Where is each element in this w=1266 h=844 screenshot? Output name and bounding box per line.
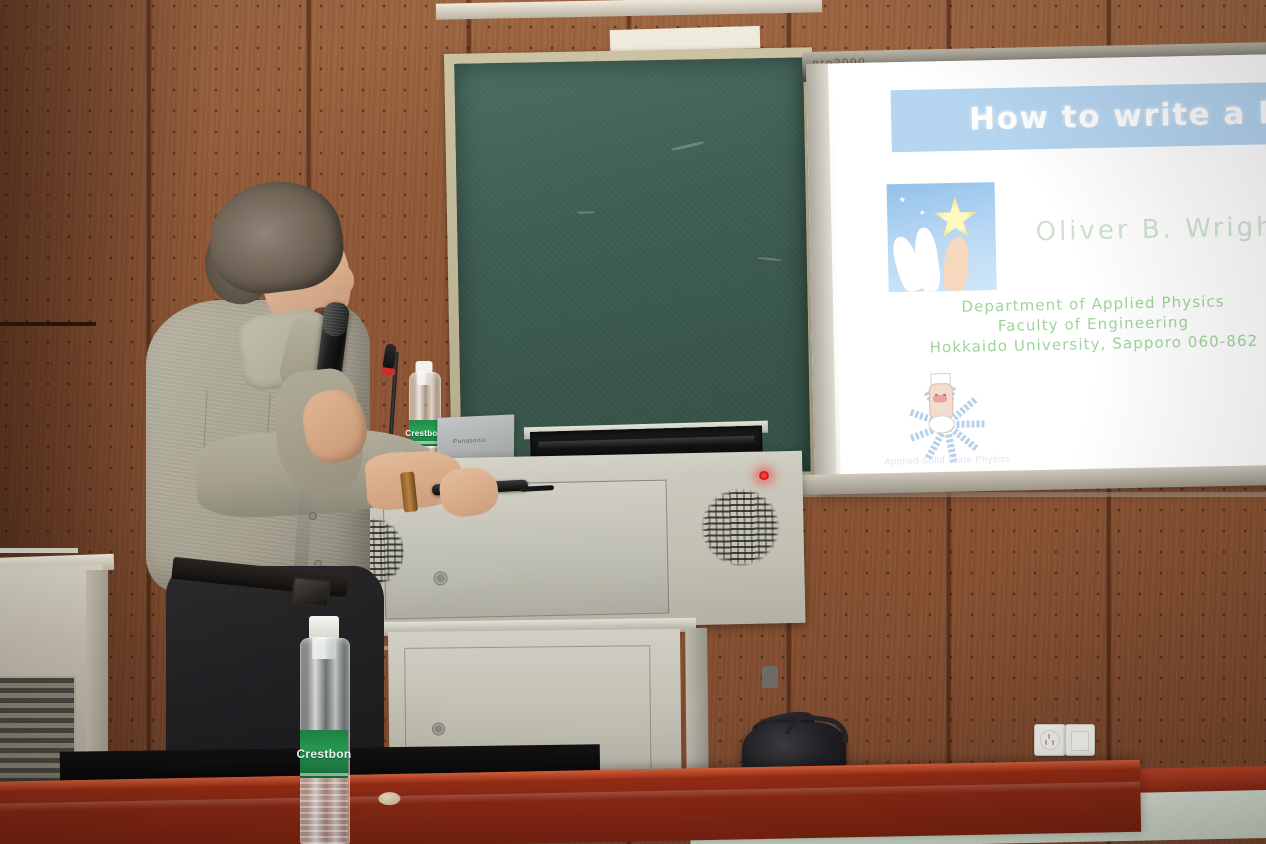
wall-trim-line	[0, 548, 78, 553]
bottle-neck	[417, 372, 431, 385]
shirt-button	[309, 512, 317, 520]
laptop-brand-label: Panasonic	[453, 438, 486, 446]
slide-title-bar: How to write a PP	[891, 81, 1266, 152]
slide-title: How to write a PP	[891, 81, 1266, 152]
logo-figure-mouth	[933, 395, 947, 402]
monitor-screen	[538, 436, 754, 449]
water-bottle-front[interactable]: Crestbon	[300, 638, 348, 844]
logo-caption: Applied Solid State Physics	[884, 454, 1011, 468]
lectern-lock[interactable]	[433, 571, 447, 585]
hand-shape	[942, 236, 971, 292]
hands-reaching-for-star-clipart	[887, 182, 997, 292]
lectern-power-led	[758, 471, 770, 480]
small-star	[899, 196, 906, 203]
lectern-base-lock[interactable]	[432, 722, 445, 735]
lecture-hall-photo: pro2000 How to write a PP Oliver B. Wrig…	[0, 0, 1266, 844]
socket-face	[1040, 730, 1060, 750]
belt-buckle	[291, 576, 332, 608]
bottle-neck	[312, 637, 336, 659]
speaker-grille	[701, 487, 781, 567]
bottle-label: Crestbon	[300, 730, 348, 778]
research-group-logo: Applied Solid State Physics	[881, 372, 1013, 471]
slide-author: Oliver B. Wright	[1035, 212, 1266, 247]
light-switch[interactable]	[1065, 724, 1095, 756]
cable-pass-through	[762, 666, 778, 688]
presentation-slide: How to write a PP Oliver B. Wright Depar…	[832, 54, 1266, 493]
slide-affiliation: Department of Applied Physics Faculty of…	[893, 290, 1266, 358]
power-socket[interactable]	[1034, 724, 1066, 756]
switch-rocker[interactable]	[1071, 731, 1089, 751]
bottle-label-text: Crestbon	[296, 747, 351, 761]
microphone-head	[321, 301, 350, 338]
big-star	[933, 196, 978, 241]
chalk-smudge	[671, 141, 705, 152]
chalk-smudge	[758, 257, 782, 261]
wall-trim-line	[0, 322, 96, 326]
bottle-cap	[309, 616, 339, 639]
projection-screen: How to write a PP Oliver B. Wright Depar…	[806, 54, 1266, 494]
chalk-smudge	[577, 211, 595, 213]
small-star	[919, 210, 925, 216]
